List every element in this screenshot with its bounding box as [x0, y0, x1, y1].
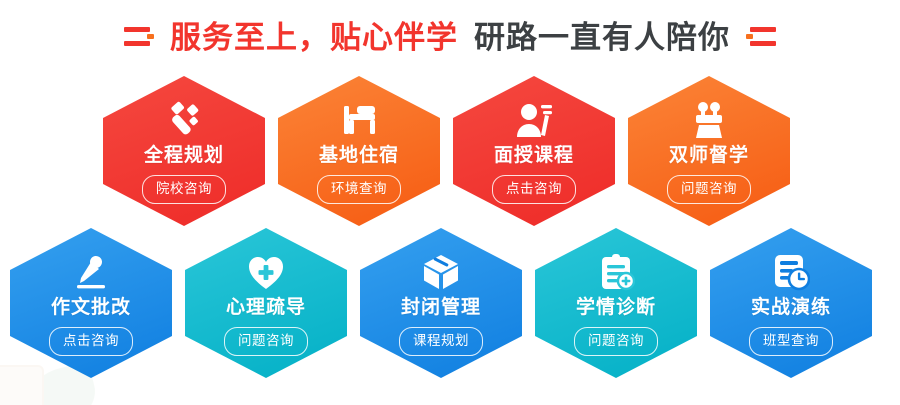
heading-sub-text: 研路一直有人陪你: [474, 22, 730, 53]
hex-card-title: 基地住宿: [319, 146, 399, 165]
pen-correction-icon: [70, 252, 112, 292]
hex-card-button[interactable]: 问题咨询: [224, 327, 308, 356]
hex-card-button[interactable]: 环境查询: [317, 175, 401, 204]
hex-card-feng-bi-guan-li[interactable]: 封闭管理 课程规划: [360, 228, 522, 378]
hex-card-mian-shou-ke-cheng[interactable]: 面授课程 点击咨询: [453, 76, 615, 226]
bed-icon: [338, 100, 380, 140]
teacher-icon: [513, 100, 555, 140]
dash-decoration-right-icon: [746, 24, 776, 50]
banner-heading: 服务至上，贴心伴学 研路一直有人陪你: [0, 14, 900, 60]
magic-wand-icon: [163, 100, 205, 140]
hex-card-shi-zhan-yan-lian[interactable]: 实战演练 班型查询: [710, 228, 872, 378]
document-clock-icon: [770, 252, 812, 292]
promo-banner: 服务至上，贴心伴学 研路一直有人陪你 全程规划 院校咨询: [0, 0, 900, 405]
hex-card-button[interactable]: 问题咨询: [574, 327, 658, 356]
hex-row-bottom: 作文批改 点击咨询 心理疏导 问题咨询: [0, 228, 900, 378]
box-icon: [420, 252, 462, 292]
hex-card-title: 全程规划: [144, 146, 224, 165]
hex-card-title: 双师督学: [669, 146, 749, 165]
heading-highlight-text: 服务至上，贴心伴学: [170, 22, 458, 53]
hex-card-xue-qing-zhen-duan[interactable]: 学情诊断 问题咨询: [535, 228, 697, 378]
hex-card-title: 实战演练: [751, 298, 831, 317]
hex-card-shuang-shi-du-xue[interactable]: 双师督学 问题咨询: [628, 76, 790, 226]
hex-card-title: 封闭管理: [401, 298, 481, 317]
clipboard-plus-icon: [595, 252, 637, 292]
heart-plus-icon: [245, 252, 287, 292]
hex-card-title: 学情诊断: [576, 298, 656, 317]
hex-card-xin-li-shu-dao[interactable]: 心理疏导 问题咨询: [185, 228, 347, 378]
hex-card-button[interactable]: 院校咨询: [142, 175, 226, 204]
hex-card-zuo-wen-pi-gai[interactable]: 作文批改 点击咨询: [10, 228, 172, 378]
dash-decoration-left-icon: [124, 24, 154, 50]
hex-card-title: 心理疏导: [226, 298, 306, 317]
hex-card-button[interactable]: 班型查询: [749, 327, 833, 356]
hex-card-button[interactable]: 点击咨询: [49, 327, 133, 356]
hex-card-button[interactable]: 问题咨询: [667, 175, 751, 204]
podium-icon: [688, 100, 730, 140]
hex-card-button[interactable]: 点击咨询: [492, 175, 576, 204]
hex-card-title: 面授课程: [494, 146, 574, 165]
hex-card-button[interactable]: 课程规划: [399, 327, 483, 356]
hex-card-quan-cheng-gui-hua[interactable]: 全程规划 院校咨询: [103, 76, 265, 226]
hex-card-ji-di-zhu-su[interactable]: 基地住宿 环境查询: [278, 76, 440, 226]
hex-row-top: 全程规划 院校咨询 基地住宿 环境查询: [0, 76, 900, 226]
hex-card-title: 作文批改: [51, 298, 131, 317]
